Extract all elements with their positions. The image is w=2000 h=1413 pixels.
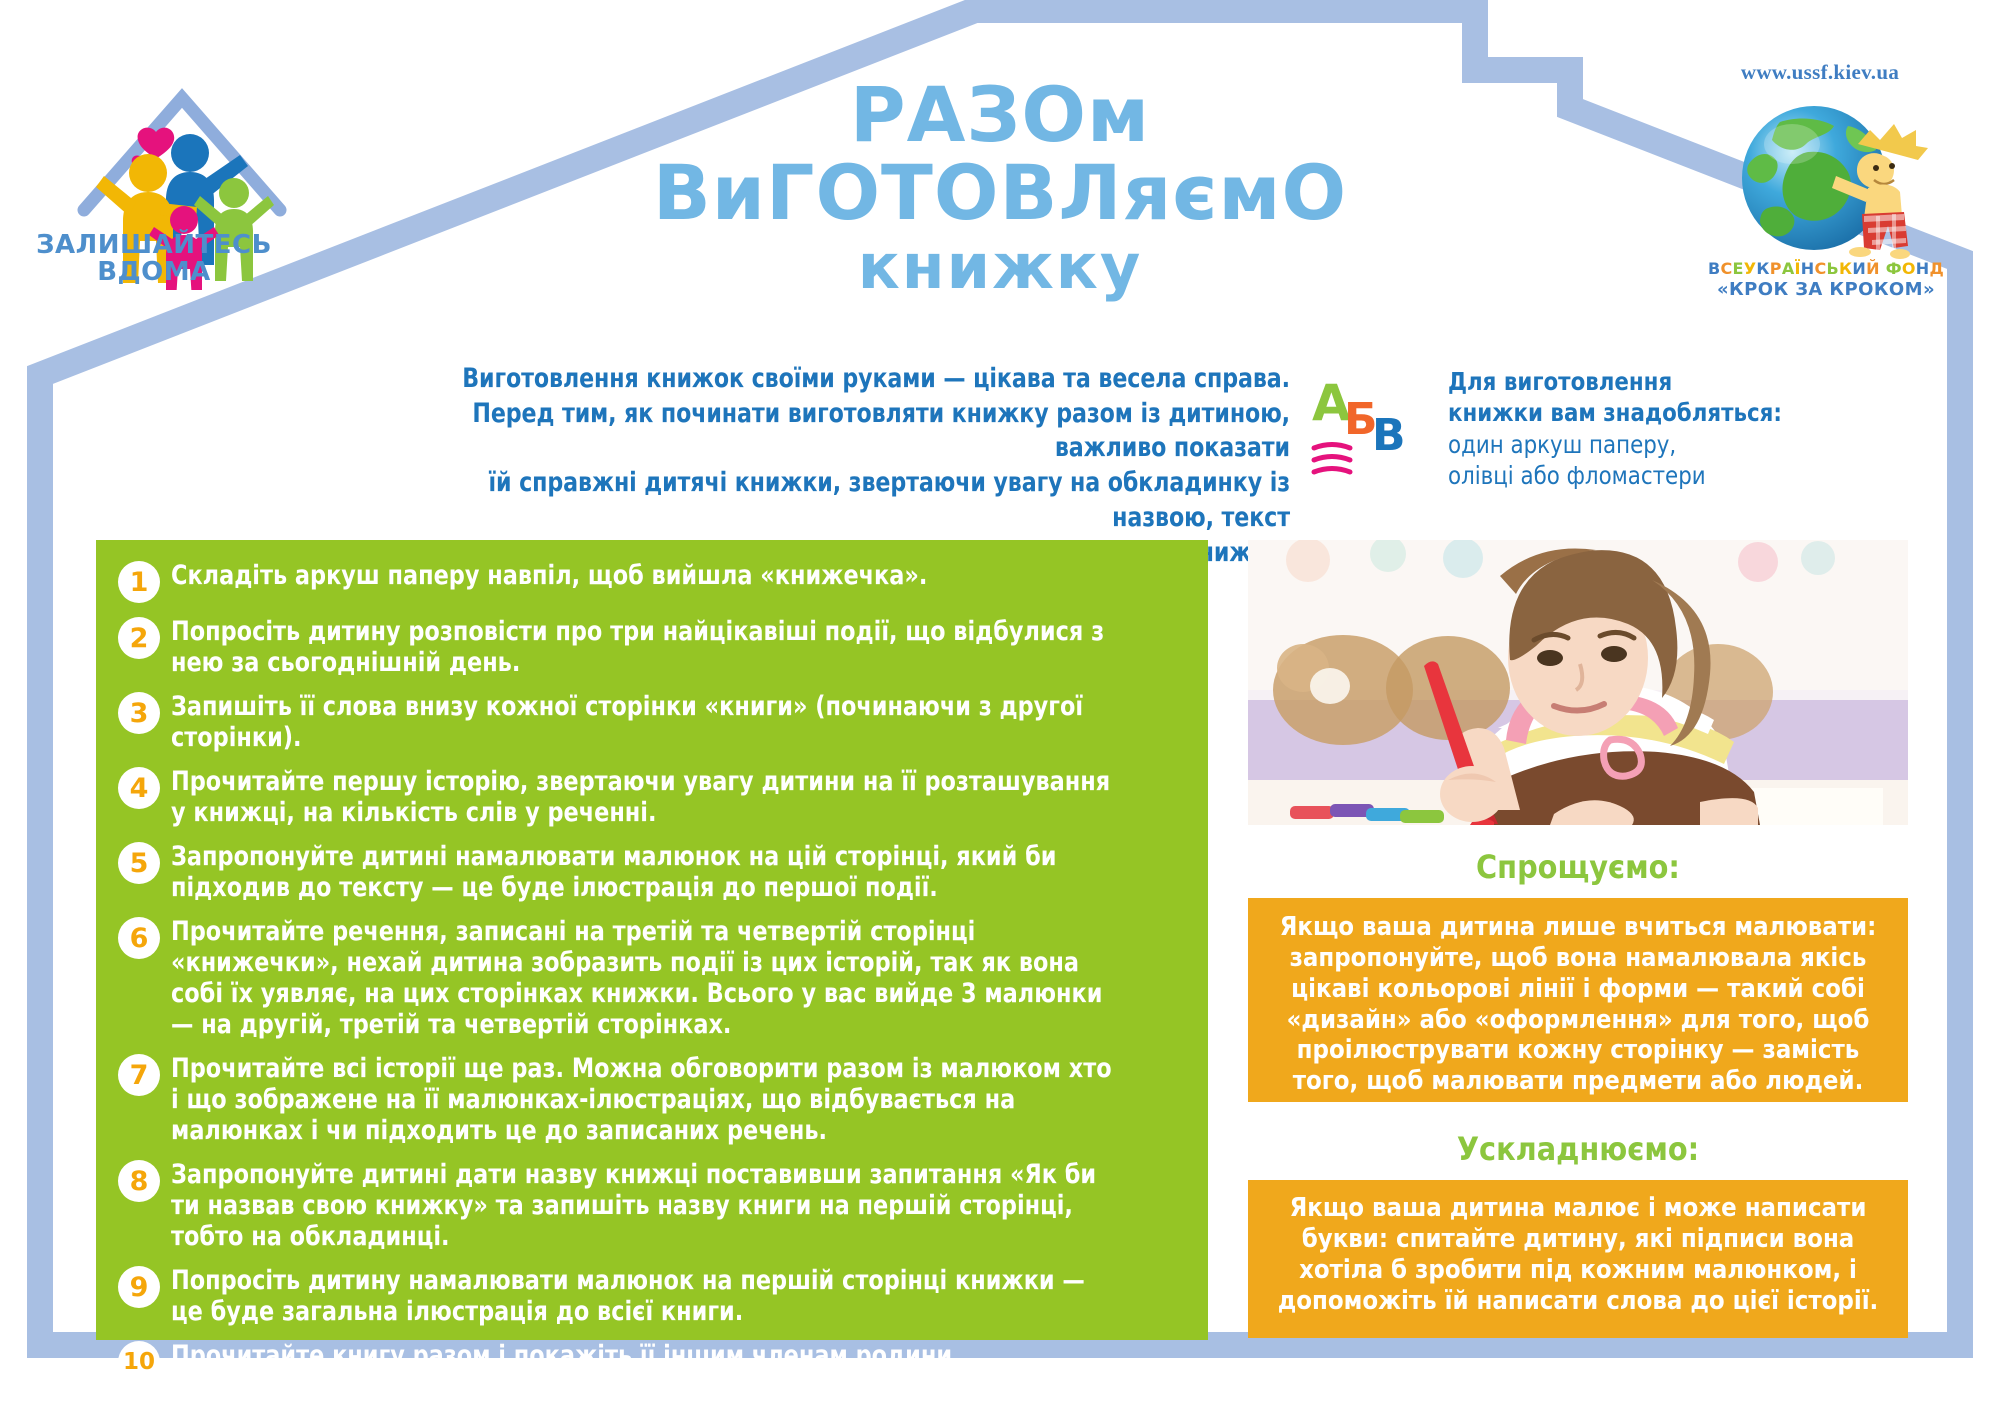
step-text: Запропонуйте дитині намалювати малюнок н… [171,841,1121,903]
title-line-1: РАЗОм [560,78,1440,152]
complicate-text: Якщо ваша дитина малює і може написати б… [1248,1180,1908,1316]
simplify-box: Якщо ваша дитина лише вчиться малювати: … [1248,898,1908,1102]
step-text: Прочитайте книгу разом і покажіть її інш… [171,1340,1121,1371]
svg-text:В: В [1372,410,1406,461]
intro-line-2: Перед тим, як починати виготовляти книжк… [397,397,1290,466]
fund-website-url[interactable]: www.ussf.kiev.ua [1670,60,1970,85]
step-number: 4 [118,767,160,809]
materials-list: Для виготовлення книжки вам знадобляться… [1448,366,1885,491]
intro-line-1: Виготовлення книжок своїми руками — ціка… [397,362,1290,397]
stay-home-line-1: ЗАЛИШАЙТЕСЬ [34,232,274,259]
materials-heading-line-1: Для виготовлення [1448,366,1885,397]
abv-letters-icon: А Б В [1310,372,1430,482]
poster-root: ЗАЛИШАЙТЕСЬ ВДОМА РАЗОм ВиГОТОВЛяємО кни… [0,0,2000,1413]
intro-paragraph: Виготовлення книжок своїми руками — ціка… [397,362,1290,570]
step-number: 10 [118,1341,160,1383]
list-item: 2 Попросіть дитину розповісти про три на… [118,616,1182,678]
list-item: 9 Попросіть дитину намалювати малюнок на… [118,1265,1182,1327]
fund-name-line-2: «КРОК ЗА КРОКОМ» [1696,280,1956,300]
complicate-box: Якщо ваша дитина малює і може написати б… [1248,1180,1908,1338]
title-line-2: ВиГОТОВЛяємО [560,156,1440,230]
title-line-3: книжку [560,237,1440,297]
simplify-text: Якщо ваша дитина лише вчиться малювати: … [1248,898,1908,1097]
step-number: 8 [118,1160,160,1202]
step-text: Попросіть дитину намалювати малюнок на п… [171,1265,1121,1327]
simplify-heading: Спрощуємо: [1248,848,1908,886]
child-drawing-photo [1248,540,1908,825]
intro-line-3: їй справжні дитячі книжки, звертаючи ува… [397,466,1290,535]
step-number: 3 [118,692,160,734]
step-number: 7 [118,1054,160,1096]
list-item: 7 Прочитайте всі історії ще раз. Можна о… [118,1053,1182,1146]
list-item: 8 Запропонуйте дитині дати назву книжці … [118,1159,1182,1252]
stay-home-tagline: ЗАЛИШАЙТЕСЬ ВДОМА [34,232,274,286]
fund-globe-logo [1708,92,1948,272]
step-text: Прочитайте першу історію, звертаючи уваг… [171,766,1121,828]
list-item: 4 Прочитайте першу історію, звертаючи ув… [118,766,1182,828]
materials-heading-line-2: книжки вам знадобляться: [1448,397,1885,428]
fund-name-line-1: ВСЕУКРАЇНСЬКИЙ ФОНД [1696,260,1956,278]
step-number: 5 [118,842,160,884]
list-item: 10 Прочитайте книгу разом і покажіть її … [118,1340,1182,1383]
step-text: Прочитайте речення, записані на третій т… [171,916,1121,1040]
step-text: Прочитайте всі історії ще раз. Можна обг… [171,1053,1121,1146]
step-text: Запропонуйте дитині дати назву книжці по… [171,1159,1121,1252]
materials-item-2: олівці або фломастери [1448,460,1885,491]
step-text: Запишіть її слова внизу кожної сторінки … [171,691,1121,753]
list-item: 3 Запишіть її слова внизу кожної сторінк… [118,691,1182,753]
step-number: 9 [118,1266,160,1308]
complicate-heading: Ускладнюємо: [1248,1130,1908,1168]
list-item: 1 Складіть аркуш паперу навпіл, щоб вийш… [118,560,1182,603]
materials-item-1: один аркуш паперу, [1448,429,1885,460]
stay-home-line-2: ВДОМА [34,259,274,286]
step-number: 6 [118,917,160,959]
steps-panel: 1 Складіть аркуш паперу навпіл, щоб вийш… [96,540,1208,1340]
list-item: 6 Прочитайте речення, записані на третій… [118,916,1182,1040]
step-text: Попросіть дитину розповісти про три найц… [171,616,1121,678]
list-item: 5 Запропонуйте дитині намалювати малюнок… [118,841,1182,903]
page-title: РАЗОм ВиГОТОВЛяємО книжку [560,78,1440,298]
step-text: Складіть аркуш паперу навпіл, щоб вийшла… [171,560,1121,591]
fund-name: ВСЕУКРАЇНСЬКИЙ ФОНД «КРОК ЗА КРОКОМ» [1696,260,1956,300]
step-number: 1 [118,561,160,603]
step-number: 2 [118,617,160,659]
